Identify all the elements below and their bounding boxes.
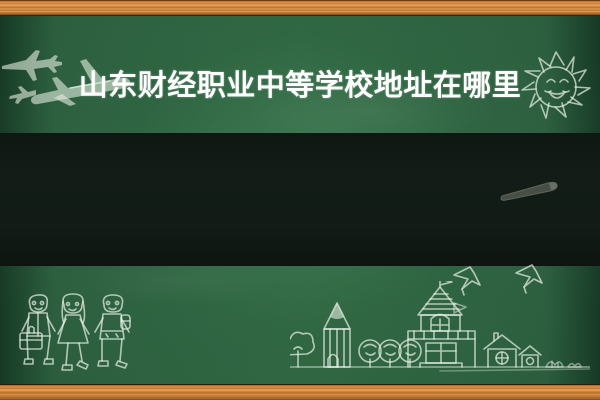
child-with-bag-icon [20,295,55,364]
chalk-stick-icon [501,182,557,200]
chalkboard-surface: 山东财经职业中等学校地址在哪里 [0,16,600,384]
child-with-backpack-icon [95,295,130,368]
dove-left-icon [454,267,480,295]
ground-line-2 [440,369,590,371]
child-girl-icon [58,294,89,370]
chalk-stick-illustration [500,179,560,201]
wooden-frame-bottom [0,384,600,400]
pencil-house-icon [324,303,350,367]
small-house-icon [484,333,520,367]
dove-small-icon [454,303,466,313]
chalkboard-banner: 山东财经职业中等学校地址在哪里 [0,0,600,400]
wooden-frame-top [0,0,600,16]
shrubs-icon [546,361,581,367]
tiny-house-icon [519,346,541,367]
round-trees-icon [359,340,421,367]
school-children-illustration [16,291,146,384]
bush-tree-icon [290,332,314,367]
page-title: 山东财经职业中等学校地址在哪里 [0,16,600,149]
dove-right-icon [516,265,542,293]
doves-illustration [440,259,560,319]
